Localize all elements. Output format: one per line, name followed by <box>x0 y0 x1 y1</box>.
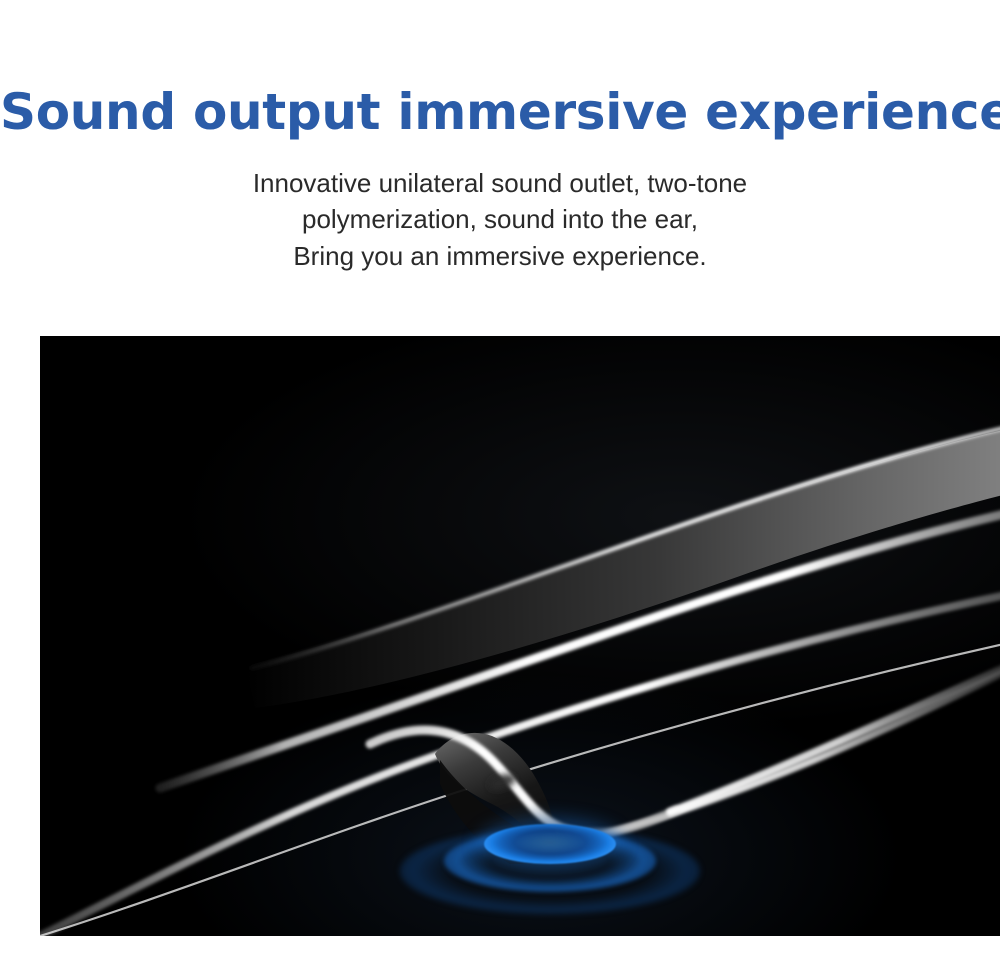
text-block: Sound output immersive experience Innova… <box>0 0 1000 320</box>
ring-core-glow <box>498 830 602 856</box>
neckband-main-highlight <box>160 506 1000 788</box>
page-title: Sound output immersive experience <box>0 0 1000 139</box>
sound-wave-rings <box>400 806 700 926</box>
product-hero-image <box>40 336 1000 936</box>
subtitle: Innovative unilateral sound outlet, two-… <box>0 139 1000 276</box>
subtitle-line-2: polymerization, sound into the ear, <box>0 201 1000 238</box>
promo-page: Sound output immersive experience Innova… <box>0 0 1000 957</box>
neckband-upper-slab <box>245 422 1000 708</box>
earbud-s-curve-tail <box>670 652 1000 812</box>
subtitle-line-1: Innovative unilateral sound outlet, two-… <box>0 165 1000 202</box>
subtitle-line-3: Bring you an immersive experience. <box>0 238 1000 275</box>
